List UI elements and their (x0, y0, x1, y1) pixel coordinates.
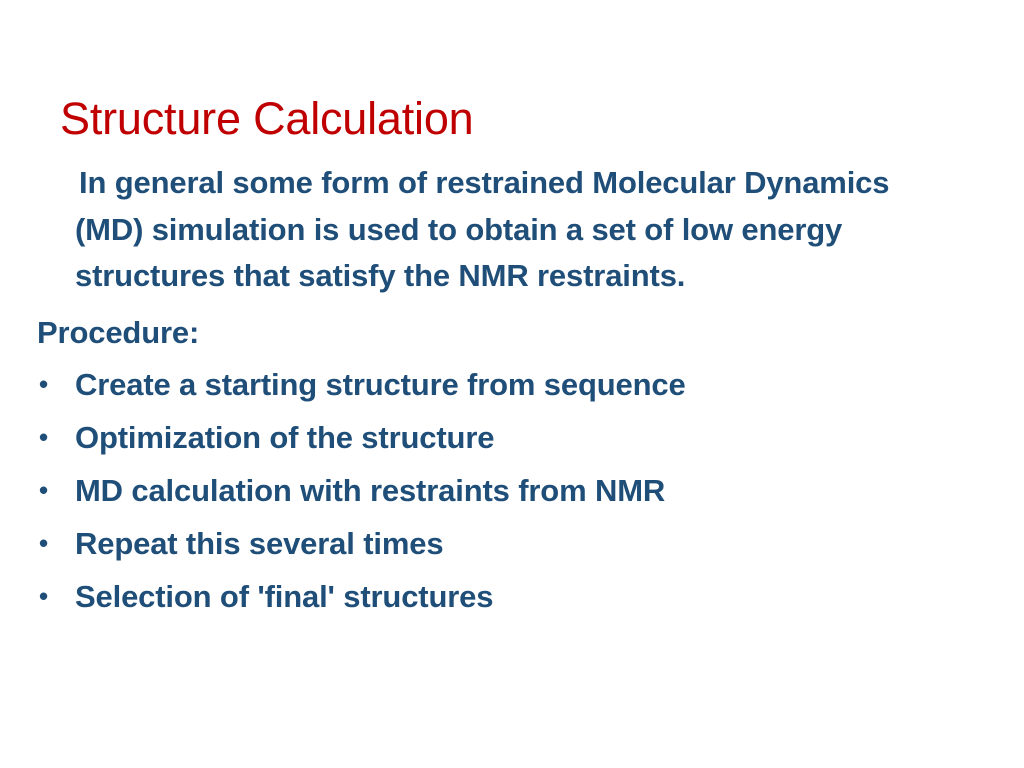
slide-body: In general some form of restrained Molec… (0, 160, 1024, 623)
list-item: • Selection of 'final' structures (0, 570, 1024, 623)
list-item: • Create a starting structure from seque… (0, 358, 1024, 411)
list-item: • Optimization of the structure (0, 411, 1024, 464)
presentation-slide: Structure Calculation In general some fo… (0, 0, 1024, 768)
list-item: • Repeat this several times (0, 517, 1024, 570)
procedure-label: Procedure: (0, 310, 1024, 356)
list-item-label: Optimization of the structure (75, 420, 494, 455)
list-item-label: Repeat this several times (75, 526, 443, 561)
list-item-label: MD calculation with restraints from NMR (75, 473, 665, 508)
bullet-point-icon: • (39, 464, 53, 517)
list-item-label: Create a starting structure from sequenc… (75, 367, 686, 402)
bullet-point-icon: • (39, 411, 53, 464)
list-item: • MD calculation with restraints from NM… (0, 464, 1024, 517)
procedure-bullet-list: • Create a starting structure from seque… (0, 358, 1024, 623)
bullet-point-icon: • (39, 358, 53, 411)
intro-paragraph: In general some form of restrained Molec… (0, 160, 1024, 300)
bullet-point-icon: • (39, 517, 53, 570)
page-title: Structure Calculation (60, 92, 964, 146)
bullet-point-icon: • (39, 570, 53, 623)
list-item-label: Selection of 'final' structures (75, 579, 493, 614)
